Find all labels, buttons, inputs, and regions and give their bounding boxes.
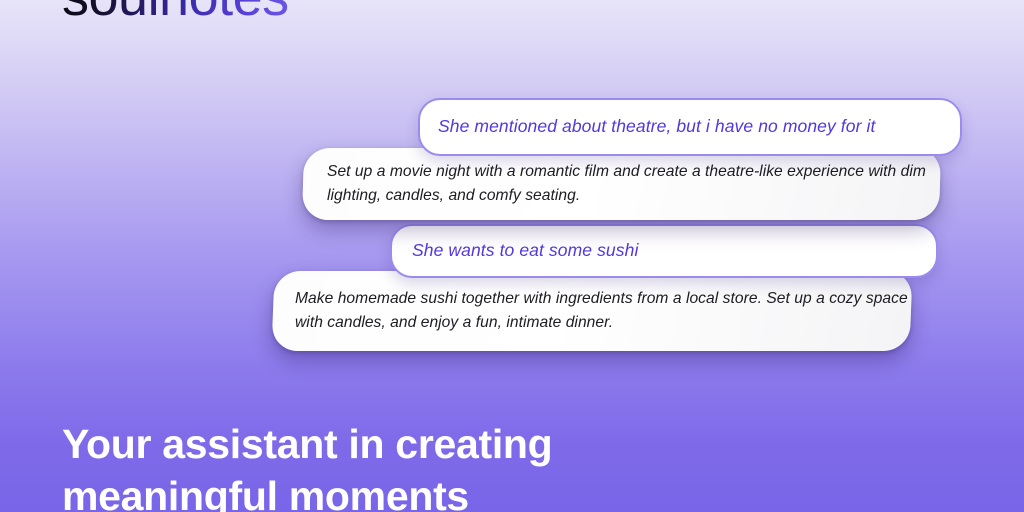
chat-bubble-user-1-text: She mentioned about theatre, but i have … (438, 115, 875, 139)
chat-bubble-assistant-2-text: Make homemade sushi together with ingred… (295, 287, 911, 335)
hero-headline-line-1: Your assistant in creating (62, 418, 822, 470)
chat-bubble-assistant-2[interactable]: Make homemade sushi together with ingred… (271, 271, 912, 351)
chat-bubble-assistant-1-text: Set up a movie night with a romantic fil… (327, 160, 940, 208)
chat-bubble-stack: She mentioned about theatre, but i have … (0, 0, 1024, 380)
chat-bubble-assistant-1[interactable]: Set up a movie night with a romantic fil… (302, 148, 941, 220)
chat-bubble-user-2[interactable]: She wants to eat some sushi (390, 224, 938, 278)
hero-headline-line-2: meaningful moments (62, 470, 822, 512)
chat-bubble-user-2-text: She wants to eat some sushi (412, 239, 638, 263)
chat-bubble-user-1[interactable]: She mentioned about theatre, but i have … (418, 98, 962, 156)
hero-headline: Your assistant in creating meaningful mo… (62, 418, 822, 512)
